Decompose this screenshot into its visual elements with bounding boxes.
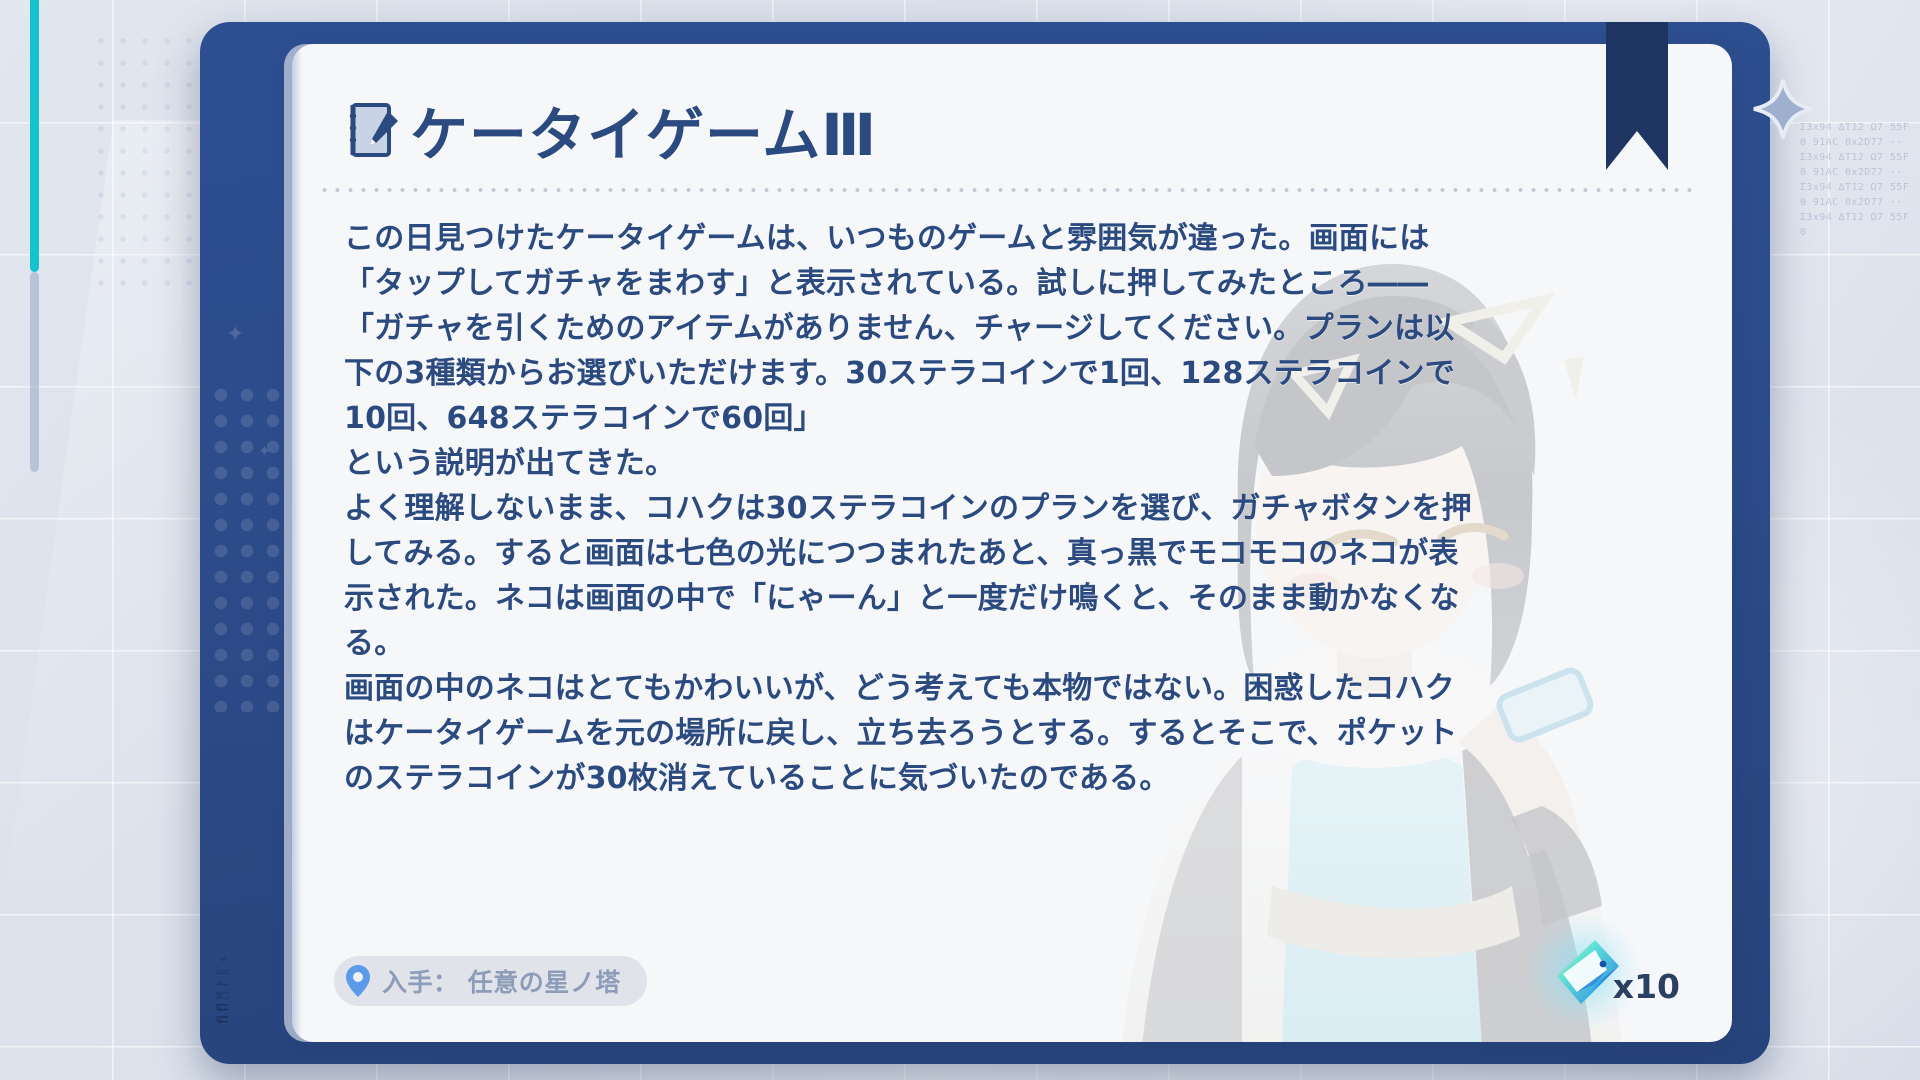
story-line: よく理解しないまま、コハクは30ステラコインのプランを選び、ガチャボタンを押 — [344, 486, 1692, 531]
game-screen: Σ3x94 ΔT12 Ω7 55F0 91AC 0x2D77 ·· Σ3x94 … — [0, 0, 1920, 1080]
map-pin-icon — [346, 965, 370, 997]
story-line: 示された。ネコは画面の中で「にゃーん」と一度だけ鳴くと、そのまま動かなくな — [344, 576, 1692, 621]
story-panel-frame: ✦ ✦ ﬁﬂᛗᚨᚱᚲ — [200, 22, 1770, 1064]
story-line: この日見つけたケータイゲームは、いつものゲームと雰囲気が違った。画面には — [344, 216, 1692, 261]
memo-pencil-icon — [344, 101, 400, 159]
story-line: 下の3種類からお選びいただけます。30ステラコインで1回、128ステラコインで — [344, 351, 1692, 396]
background-code-text: Σ3x94 ΔT12 Ω7 55F0 91AC 0x2D77 ·· Σ3x94 … — [1800, 120, 1910, 700]
source-tag-label: 入手： 任意の星ノ塔 — [382, 963, 621, 999]
accent-bar-tail — [30, 272, 39, 472]
card-left-edge-shade — [292, 44, 302, 1042]
story-card: ケータイゲームⅢ この日見つけたケータイゲームは、いつものゲームと雰囲気が違った… — [292, 44, 1732, 1042]
four-point-star-sparkle-icon — [1752, 78, 1814, 140]
story-line: のステラコインが30枚消えていることに気づいたのである。 — [344, 756, 1692, 801]
page-title: ケータイゲームⅢ — [344, 88, 877, 172]
page-title-text: ケータイゲームⅢ — [410, 88, 877, 172]
story-body: この日見つけたケータイゲームは、いつものゲームと雰囲気が違った。画面には 「タッ… — [344, 216, 1692, 801]
cyan-accent-bar — [30, 0, 39, 272]
source-tag[interactable]: 入手： 任意の星ノ塔 — [334, 956, 647, 1006]
title-divider — [318, 188, 1698, 192]
frame-sparkle-icon: ✦ — [258, 442, 271, 460]
frame-rune-text: ﬁﬂᛗᚨᚱᚲ — [214, 952, 242, 1024]
story-line: 「ガチャを引くためのアイテムがありません、チャージしてください。プランは以 — [344, 306, 1692, 351]
item-badge[interactable]: x10 — [1551, 936, 1680, 1008]
story-line: 「タップしてガチャをまわす」と表示されている。試しに押してみたところ―― — [344, 261, 1692, 306]
story-line: る。 — [344, 621, 1692, 666]
item-count-label: x10 — [1613, 967, 1680, 1006]
frame-sparkle-icon: ✦ — [226, 322, 244, 347]
story-line: してみる。すると画面は七色の光につつまれたあと、真っ黒でモコモコのネコが表 — [344, 531, 1692, 576]
story-line: 10回、648ステラコインで60回」 — [344, 396, 1692, 441]
story-line: という説明が出てきた。 — [344, 441, 1692, 486]
story-line: はケータイゲームを元の場所に戻し、立ち去ろうとする。するとそこで、ポケット — [344, 711, 1692, 756]
story-line: 画面の中のネコはとてもかわいいが、どう考えても本物ではない。困惑したコハク — [344, 666, 1692, 711]
